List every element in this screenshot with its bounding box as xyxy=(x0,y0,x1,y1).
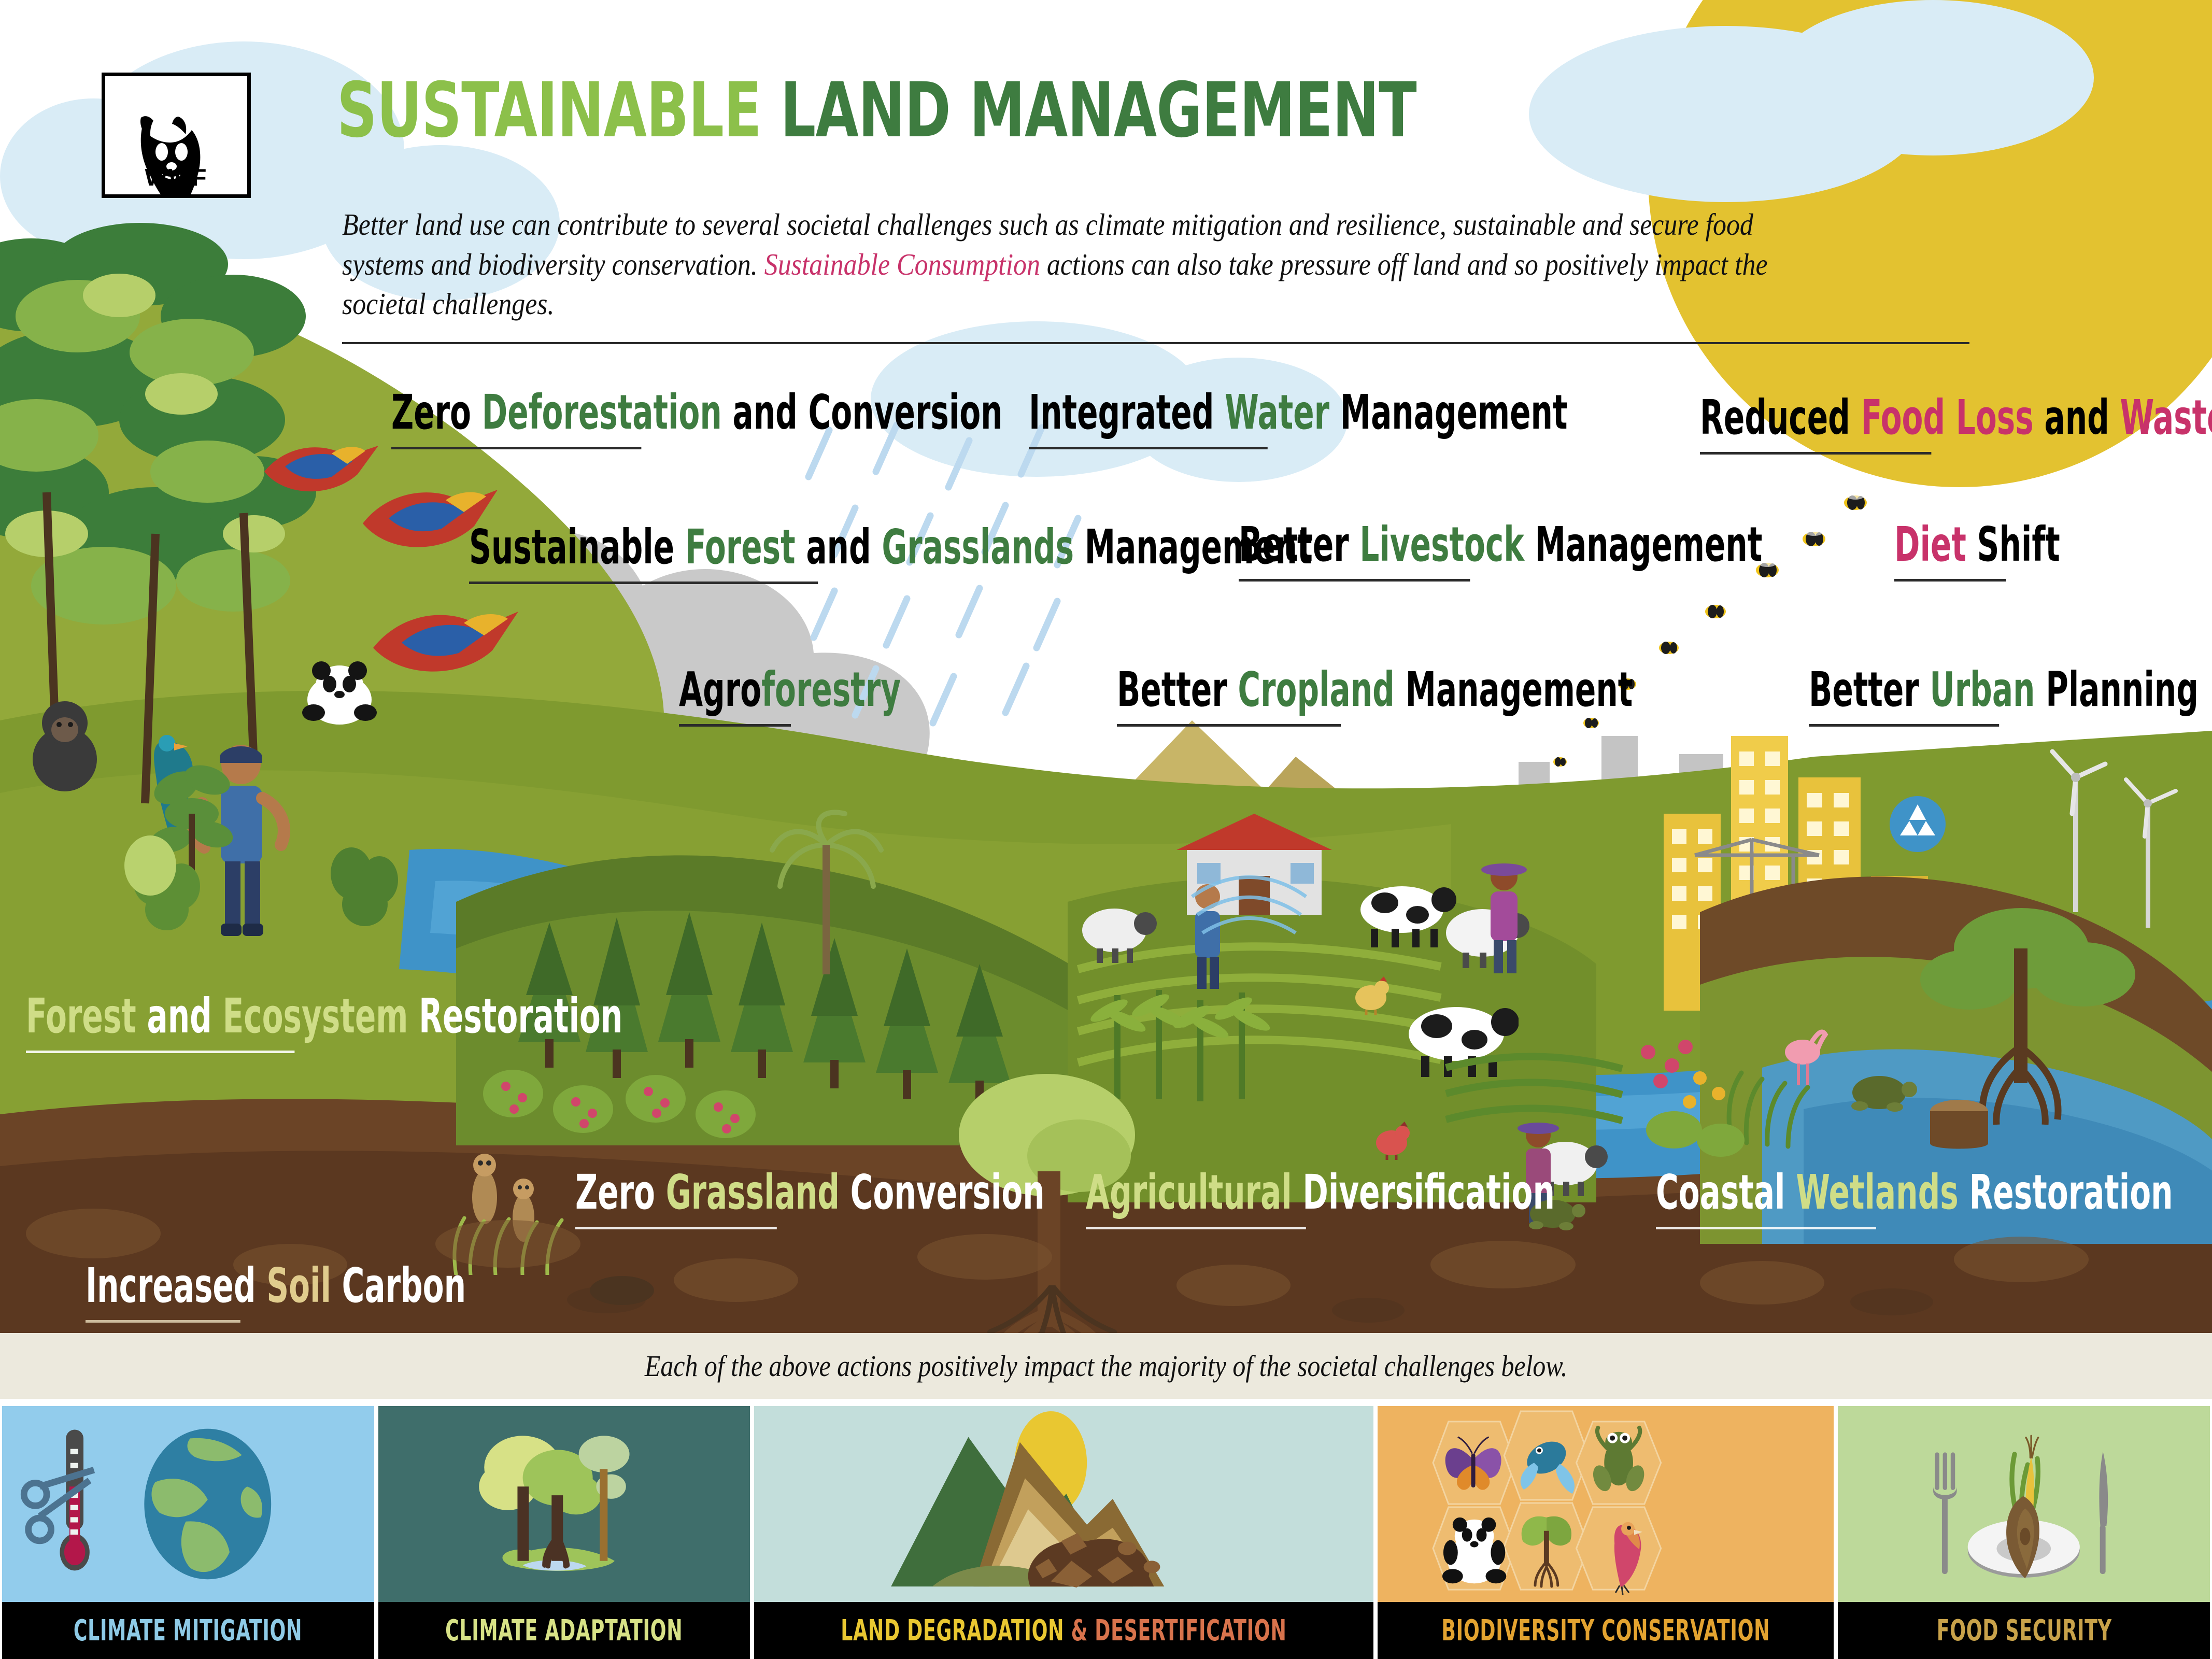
action-label-text: Increased Soil Carbon xyxy=(86,1262,466,1310)
action-label-better-urban-planning[interactable]: Better Urban Planning xyxy=(1809,666,2199,727)
action-label-text: Better Urban Planning xyxy=(1809,666,2199,714)
challenge-artwork xyxy=(378,1406,750,1602)
farmer-icon xyxy=(1472,860,1539,974)
knife-icon xyxy=(2100,1452,2108,1574)
rock-icon xyxy=(586,1270,658,1306)
panda-icon xyxy=(290,658,389,731)
challenge-artwork xyxy=(1378,1406,1834,1602)
header-divider xyxy=(342,342,1969,344)
bush-icon xyxy=(122,829,184,907)
challenge-land-degradation-desertification[interactable]: LAND DEGRADATION & DESERTIFICATION xyxy=(754,1406,1373,1659)
action-label-text: Zero Deforestation and Conversion xyxy=(391,389,1003,436)
action-label-text: Forest and Ecosystem Restoration xyxy=(26,992,622,1040)
wwf-wordmark: WWF xyxy=(105,163,247,191)
challenge-artwork xyxy=(754,1406,1373,1602)
action-label-integrated-water-management[interactable]: Integrated Water Management xyxy=(1029,389,1567,449)
gorilla-icon xyxy=(21,694,109,793)
societal-challenges-strip: CLIMATE MITIGATION xyxy=(0,1406,2212,1659)
action-label-text: Zero Grassland Conversion xyxy=(575,1169,1045,1216)
intro-highlight: Sustainable Consumption xyxy=(764,247,1040,281)
challenge-label-text: CLIMATE MITIGATION xyxy=(74,1614,302,1648)
palm-tree-icon xyxy=(767,809,886,980)
action-label-text: Agroforestry xyxy=(679,666,901,714)
action-label-text: Coastal Wetlands Restoration xyxy=(1656,1169,2173,1216)
challenge-label-text: CLIMATE ADAPTATION xyxy=(445,1614,683,1648)
page-title: SUSTAINABLE LAND MANAGEMENT xyxy=(337,66,1416,154)
action-label-better-livestock-management[interactable]: Better Livestock Management xyxy=(1239,521,1762,582)
mid-banner-text: Each of the above actions positively imp… xyxy=(645,1349,1567,1383)
challenge-label-bar: CLIMATE MITIGATION xyxy=(2,1602,374,1659)
action-label-agroforestry[interactable]: Agroforestry xyxy=(679,666,901,727)
mangrove-tree-icon xyxy=(479,1436,629,1571)
diversified-crops xyxy=(1430,974,1752,1192)
action-underline xyxy=(575,1227,777,1229)
wind-turbine-icon xyxy=(2115,772,2182,928)
challenge-biodiversity-conservation[interactable]: BIODIVERSITY CONSERVATION xyxy=(1378,1406,1834,1659)
action-underline xyxy=(1239,579,1470,582)
action-underline xyxy=(26,1051,294,1053)
action-underline xyxy=(391,447,641,449)
action-underline xyxy=(1894,579,2006,582)
globe-icon xyxy=(144,1429,271,1579)
wind-turbine-icon xyxy=(2042,746,2109,912)
action-label-coastal-wetlands-restoration[interactable]: Coastal Wetlands Restoration xyxy=(1656,1169,2173,1229)
action-underline xyxy=(1809,724,1999,727)
action-label-text: Sustainable Forest and Grasslands Manage… xyxy=(469,523,1312,571)
action-underline xyxy=(1117,724,1341,727)
chicken-icon xyxy=(1368,1114,1415,1161)
fork-icon xyxy=(1933,1452,1957,1574)
action-label-zero-deforestation-and-conversion[interactable]: Zero Deforestation and Conversion xyxy=(391,389,1003,449)
challenge-label-bar: FOOD SECURITY xyxy=(1838,1602,2210,1659)
challenge-artwork xyxy=(2,1406,374,1602)
action-label-increased-soil-carbon[interactable]: Increased Soil Carbon xyxy=(86,1262,466,1323)
infographic-canvas: WWF SUSTAINABLE LAND MANAGEMENT Better l… xyxy=(0,0,2212,1659)
action-label-better-cropland-management[interactable]: Better Cropland Management xyxy=(1117,666,1633,727)
action-label-text: Better Cropland Management xyxy=(1117,666,1633,714)
tree-stump xyxy=(1918,1094,2001,1156)
chicken-icon xyxy=(1348,969,1394,1016)
action-underline xyxy=(86,1320,240,1323)
action-label-reduced-food-loss-and-waste[interactable]: Reduced Food Loss and Waste xyxy=(1700,394,2212,455)
intro-paragraph: Better land use can contribute to severa… xyxy=(342,205,1783,324)
sheep-icon xyxy=(1073,902,1161,964)
challenge-label-bar: CLIMATE ADAPTATION xyxy=(378,1602,750,1659)
wwf-panda-logo: WWF xyxy=(102,73,251,198)
action-label-text: Agricultural Diversification xyxy=(1086,1169,1555,1216)
action-label-text: Diet Shift xyxy=(1894,521,2060,569)
title-part-2: LAND MANAGEMENT xyxy=(781,66,1416,154)
challenge-label-bar: LAND DEGRADATION & DESERTIFICATION xyxy=(754,1602,1373,1659)
flamingo-icon xyxy=(1778,1021,1835,1088)
action-underline xyxy=(679,724,791,727)
action-label-text: Better Livestock Management xyxy=(1239,521,1762,569)
action-label-sustainable-forest-and-grasslands-management[interactable]: Sustainable Forest and Grasslands Manage… xyxy=(469,523,1312,584)
action-label-text: Reduced Food Loss and Waste xyxy=(1700,394,2212,442)
challenge-food-security[interactable]: FOOD SECURITY xyxy=(1838,1406,2210,1659)
action-underline xyxy=(1086,1227,1306,1229)
action-label-forest-and-ecosystem-restoration[interactable]: Forest and Ecosystem Restoration xyxy=(26,992,622,1053)
title-part-1: SUSTAINABLE xyxy=(337,66,781,154)
action-label-text: Integrated Water Management xyxy=(1029,389,1567,436)
challenge-artwork xyxy=(1838,1406,2210,1602)
challenge-label-text: BIODIVERSITY CONSERVATION xyxy=(1441,1614,1770,1648)
mid-banner: Each of the above actions positively imp… xyxy=(0,1333,2212,1399)
challenge-label-bar: BIODIVERSITY CONSERVATION xyxy=(1378,1602,1834,1659)
challenge-climate-mitigation[interactable]: CLIMATE MITIGATION xyxy=(2,1406,374,1659)
challenge-label-text: FOOD SECURITY xyxy=(1936,1614,2111,1648)
challenge-climate-adaptation[interactable]: CLIMATE ADAPTATION xyxy=(378,1406,750,1659)
challenge-label-text: LAND DEGRADATION & DESERTIFICATION xyxy=(841,1614,1286,1648)
action-underline xyxy=(1656,1227,1876,1229)
action-label-diet-shift[interactable]: Diet Shift xyxy=(1894,521,2060,582)
action-underline xyxy=(469,582,818,584)
irrigation-icon xyxy=(1171,866,1327,980)
cloud-decoration xyxy=(1773,0,2094,155)
turtle-icon xyxy=(1845,1068,1918,1114)
action-underline xyxy=(1029,447,1268,449)
action-label-zero-grassland-conversion[interactable]: Zero Grassland Conversion xyxy=(575,1169,1045,1229)
action-underline xyxy=(1700,452,1931,455)
action-label-agricultural-diversification[interactable]: Agricultural Diversification xyxy=(1086,1169,1555,1229)
